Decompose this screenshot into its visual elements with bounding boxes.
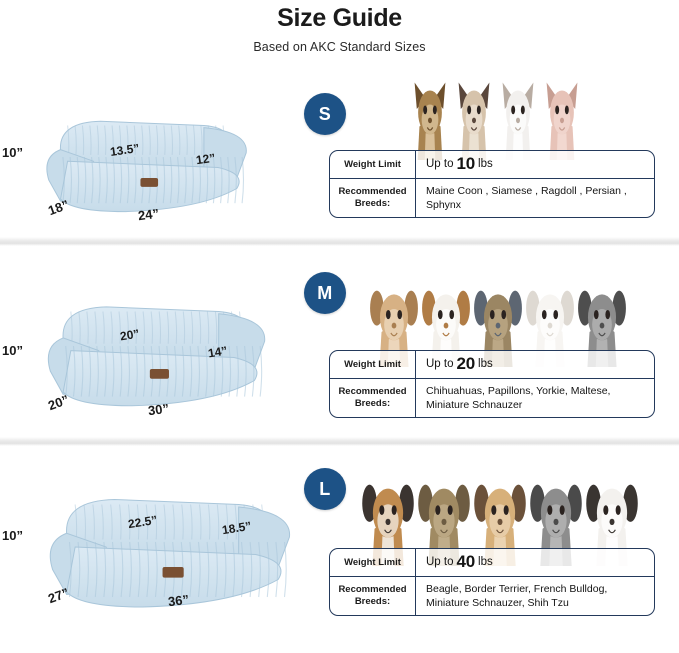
pet-photo-strip-s	[408, 72, 584, 160]
dimension-length-l: 36”	[167, 592, 190, 609]
siamese-cat	[452, 72, 496, 160]
recommended-breeds-value: Maine Coon , Siamese , Ragdoll , Persian…	[416, 179, 654, 217]
info-table-l: Weight LimitUp to40lbsRecommendedBreeds:…	[329, 548, 655, 616]
recommended-breeds-label-line2: Breeds:	[355, 398, 390, 410]
table-row: Weight LimitUp to10lbs	[330, 151, 654, 178]
maine-coon-cat	[408, 72, 452, 160]
dimension-height-l: 10”	[2, 528, 23, 543]
size-badge-m: M	[304, 272, 346, 314]
recommended-breeds-label-line2: Breeds:	[355, 596, 390, 608]
recommended-breeds-label-line1: Recommended	[338, 386, 406, 398]
dimension-inner-depth-m: 14”	[207, 344, 228, 361]
weight-limit-number: 40	[457, 551, 476, 574]
ragdoll-cat	[496, 72, 540, 160]
section-divider	[0, 237, 679, 246]
breeds-text: Chihuahuas, Papillons, Yorkie, Maltese, …	[426, 384, 644, 412]
recommended-breeds-label-line1: Recommended	[338, 186, 406, 198]
weight-limit-label: Weight Limit	[330, 549, 416, 576]
weight-unit-text: lbs	[478, 555, 493, 571]
weight-limit-label: Weight Limit	[330, 151, 416, 178]
page-header: Size Guide Based on AKC Standard Sizes	[0, 0, 679, 54]
weight-limit-number: 10	[457, 153, 476, 176]
weight-up-to-text: Up to	[426, 555, 454, 571]
weight-limit-value: Up to10lbs	[416, 151, 654, 178]
dimension-length-m: 30”	[147, 401, 170, 418]
weight-limit-label-text: Weight Limit	[344, 359, 401, 371]
weight-limit-value: Up to20lbs	[416, 351, 654, 378]
recommended-breeds-value: Chihuahuas, Papillons, Yorkie, Maltese, …	[416, 379, 654, 417]
size-badge-s: S	[304, 93, 346, 135]
weight-limit-label-text: Weight Limit	[344, 557, 401, 569]
recommended-breeds-label-line2: Breeds:	[355, 198, 390, 210]
weight-unit-text: lbs	[478, 357, 493, 373]
recommended-breeds-label: RecommendedBreeds:	[330, 379, 416, 417]
weight-unit-text: lbs	[478, 157, 493, 173]
dimension-inner-depth-s: 12”	[195, 151, 216, 168]
sphynx-cat	[540, 72, 584, 160]
weight-up-to-text: Up to	[426, 157, 454, 173]
size-guide-page: Size Guide Based on AKC Standard Sizes 1…	[0, 0, 679, 653]
info-table-s: Weight LimitUp to10lbsRecommendedBreeds:…	[329, 150, 655, 218]
dimension-inner-length-m: 20”	[119, 327, 140, 344]
page-title: Size Guide	[0, 4, 679, 33]
recommended-breeds-value: Beagle, Border Terrier, French Bulldog, …	[416, 577, 654, 615]
recommended-breeds-label: RecommendedBreeds:	[330, 179, 416, 217]
weight-limit-label-text: Weight Limit	[344, 159, 401, 171]
recommended-breeds-label-line1: Recommended	[338, 584, 406, 596]
page-subtitle: Based on AKC Standard Sizes	[0, 40, 679, 54]
table-row: RecommendedBreeds:Chihuahuas, Papillons,…	[330, 378, 654, 417]
weight-up-to-text: Up to	[426, 357, 454, 373]
table-row: RecommendedBreeds:Beagle, Border Terrier…	[330, 576, 654, 615]
weight-limit-number: 20	[457, 353, 476, 376]
dimension-height-m: 10”	[2, 343, 23, 358]
section-divider	[0, 437, 679, 446]
breeds-text: Beagle, Border Terrier, French Bulldog, …	[426, 582, 644, 610]
info-table-m: Weight LimitUp to20lbsRecommendedBreeds:…	[329, 350, 655, 418]
weight-limit-value: Up to40lbs	[416, 549, 654, 576]
table-row: RecommendedBreeds:Maine Coon , Siamese ,…	[330, 178, 654, 217]
table-row: Weight LimitUp to40lbs	[330, 549, 654, 576]
weight-limit-label: Weight Limit	[330, 351, 416, 378]
recommended-breeds-label: RecommendedBreeds:	[330, 577, 416, 615]
dimension-height-s: 10”	[2, 145, 23, 160]
size-badge-l: L	[304, 468, 346, 510]
breeds-text: Maine Coon , Siamese , Ragdoll , Persian…	[426, 184, 644, 212]
dimension-length-s: 24”	[137, 206, 160, 223]
table-row: Weight LimitUp to20lbs	[330, 351, 654, 378]
